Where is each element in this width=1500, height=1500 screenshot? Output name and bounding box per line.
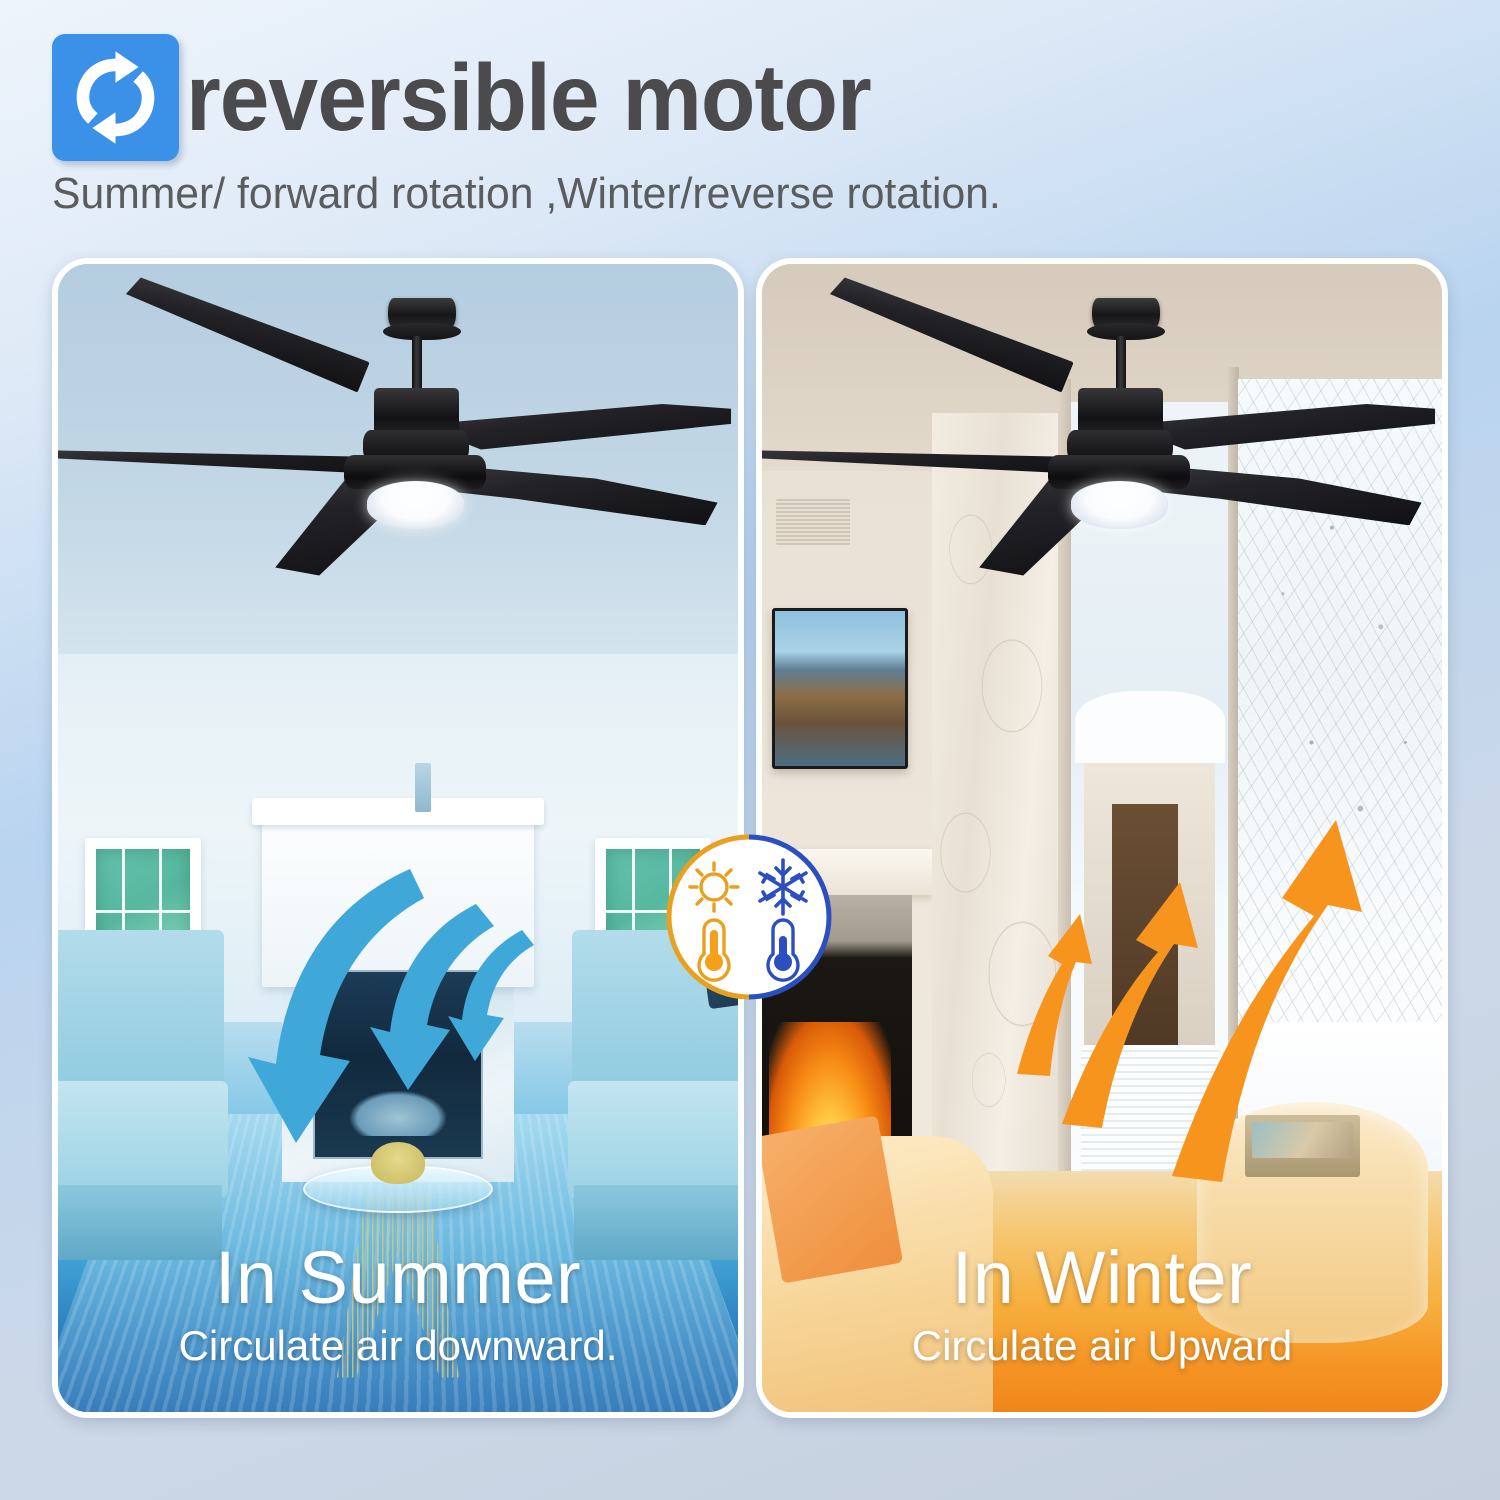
sofa-seat: [52, 1081, 228, 1198]
caption-title: In Winter: [762, 1236, 1442, 1320]
tray-contents: [1252, 1122, 1354, 1158]
decor-tray: [1245, 1115, 1361, 1177]
exterior-door: [1112, 804, 1178, 1061]
fan-led-light: [367, 481, 464, 530]
window-mullion: [96, 910, 190, 913]
fireplace-logs: [350, 1091, 445, 1137]
caption-subtitle: Circulate air downward.: [58, 1320, 738, 1372]
sofa-left: [52, 930, 228, 1274]
fireplace-mantel-body: [262, 815, 534, 987]
reverse-rotation-icon: [52, 34, 179, 161]
panel-summer: In Summer Circulate air downward.: [52, 258, 744, 1418]
panel-winter: In Winter Circulate air Upward: [756, 258, 1448, 1418]
caption-subtitle: Circulate air Upward: [762, 1320, 1442, 1372]
caption-summer: In Summer Circulate air downward.: [58, 1236, 738, 1412]
ceiling-fan-winter: [762, 264, 1442, 792]
page-subtitle: Summer/ forward rotation ,Winter/reverse…: [52, 168, 1001, 220]
decor-bowl: [371, 1142, 425, 1183]
fan-downrod: [1116, 336, 1126, 394]
header: reversible motor Summer/ forward rotatio…: [0, 0, 1500, 240]
page-title: reversible motor: [186, 42, 871, 154]
winter-room-scene: In Winter Circulate air Upward: [762, 264, 1442, 1412]
sofa-seat: [568, 1081, 744, 1198]
ceiling-fan-summer: [58, 264, 738, 792]
fan-blade: [829, 268, 1075, 393]
fan-downrod: [412, 336, 422, 394]
fireplace-mantel-shelf: [252, 798, 544, 826]
fan-blade: [125, 268, 371, 393]
fan-led-light: [1071, 481, 1168, 530]
caption-title: In Summer: [58, 1236, 738, 1320]
fan-blade: [52, 445, 378, 473]
temperature-badge: [664, 832, 834, 1002]
fan-blade: [756, 445, 1082, 473]
caption-winter: In Winter Circulate air Upward: [762, 1236, 1442, 1412]
summer-room-scene: In Summer Circulate air downward.: [58, 264, 738, 1412]
